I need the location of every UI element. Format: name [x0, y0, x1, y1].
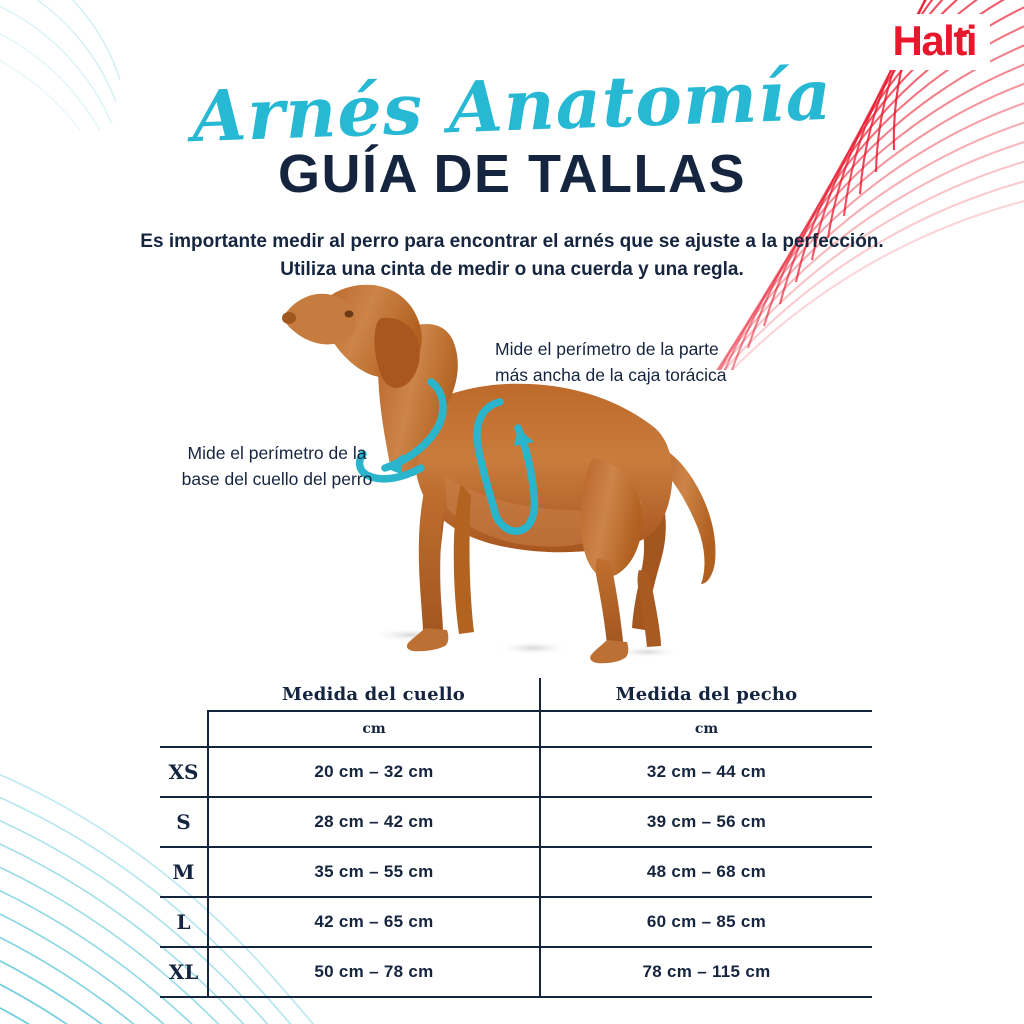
- chest-annotation-line-1: Mide el perímetro de la parte: [495, 336, 785, 362]
- row-neck-value: 50 cm – 78 cm: [208, 947, 540, 997]
- neck-annotation-line-2: base del cuello del perro: [162, 466, 392, 492]
- units-neck: cm: [208, 711, 540, 747]
- units-size-spacer: [160, 711, 208, 747]
- page-subtitle: Es importante medir al perro para encont…: [92, 228, 932, 283]
- chest-measure-arrow-icon: [460, 388, 570, 558]
- row-size-label: L: [160, 897, 208, 947]
- row-size-label: M: [160, 847, 208, 897]
- size-table: Medida del cuello Medida del pecho cm cm…: [160, 678, 872, 998]
- row-neck-value: 28 cm – 42 cm: [208, 797, 540, 847]
- row-size-label: XL: [160, 947, 208, 997]
- row-chest-value: 48 cm – 68 cm: [540, 847, 872, 897]
- chest-annotation-line-2: más ancha de la caja torácica: [495, 362, 785, 388]
- table-row: XL 50 cm – 78 cm 78 cm – 115 cm: [160, 947, 872, 997]
- size-table-container: Medida del cuello Medida del pecho cm cm…: [160, 678, 872, 998]
- neck-measurement-annotation: Mide el perímetro de la base del cuello …: [162, 440, 392, 493]
- page-title: GUÍA DE TALLAS: [0, 143, 1024, 205]
- subtitle-line-1: Es importante medir al perro para encont…: [92, 228, 932, 256]
- row-chest-value: 39 cm – 56 cm: [540, 797, 872, 847]
- brand-logo: Halti: [878, 14, 990, 70]
- row-chest-value: 32 cm – 44 cm: [540, 747, 872, 797]
- row-size-label: S: [160, 797, 208, 847]
- units-chest: cm: [540, 711, 872, 747]
- chest-measurement-annotation: Mide el perímetro de la parte más ancha …: [495, 336, 785, 389]
- table-row: XS 20 cm – 32 cm 32 cm – 44 cm: [160, 747, 872, 797]
- table-header-row: Medida del cuello Medida del pecho: [160, 678, 872, 711]
- row-neck-value: 35 cm – 55 cm: [208, 847, 540, 897]
- header-chest-measure: Medida del pecho: [540, 678, 872, 711]
- header-neck-measure: Medida del cuello: [208, 678, 540, 711]
- neck-annotation-line-1: Mide el perímetro de la: [162, 440, 392, 466]
- row-chest-value: 60 cm – 85 cm: [540, 897, 872, 947]
- dog-illustration-area: Mide el perímetro de la parte más ancha …: [150, 280, 890, 680]
- table-row: S 28 cm – 42 cm 39 cm – 56 cm: [160, 797, 872, 847]
- subtitle-line-2: Utiliza una cinta de medir o una cuerda …: [92, 256, 932, 284]
- row-size-label: XS: [160, 747, 208, 797]
- table-units-row: cm cm: [160, 711, 872, 747]
- header-size: [160, 678, 208, 711]
- row-neck-value: 42 cm – 65 cm: [208, 897, 540, 947]
- row-neck-value: 20 cm – 32 cm: [208, 747, 540, 797]
- table-row: M 35 cm – 55 cm 48 cm – 68 cm: [160, 847, 872, 897]
- table-row: L 42 cm – 65 cm 60 cm – 85 cm: [160, 897, 872, 947]
- brand-logo-text: Halti: [892, 20, 976, 62]
- size-guide-page: Halti Arnés Anatomía GUÍA DE TALLAS Es i…: [0, 0, 1024, 1024]
- row-chest-value: 78 cm – 115 cm: [540, 947, 872, 997]
